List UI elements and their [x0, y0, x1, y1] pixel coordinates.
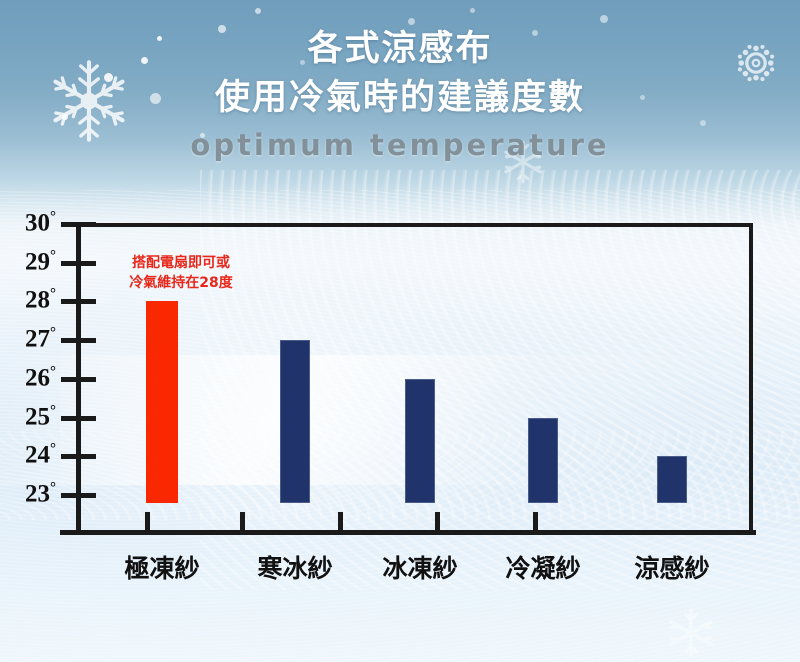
y-axis-tick	[61, 222, 96, 227]
x-axis-tick-label: 極凍紗	[92, 549, 232, 585]
y-axis-tick	[61, 416, 96, 421]
x-axis-tick	[240, 512, 245, 534]
bar-chart: 30°29°28°27°26°25°24°23° 極凍紗寒冰紗冰凍紗冷凝紗涼感紗…	[0, 0, 800, 662]
y-axis-tick-label: 23°	[6, 481, 56, 506]
bar	[657, 456, 687, 503]
y-axis-tick-label: 29°	[6, 249, 56, 274]
bar	[528, 418, 558, 503]
y-axis-tick	[61, 493, 96, 498]
y-axis-tick-label: 28°	[6, 287, 56, 312]
x-axis-line	[60, 530, 756, 535]
chart-annotation: 搭配電扇即可或 冷氣維持在28度	[96, 253, 266, 294]
bar	[146, 301, 178, 503]
x-axis-tick	[435, 512, 440, 534]
x-axis-tick-label: 寒冰紗	[225, 549, 365, 585]
y-axis-tick	[61, 261, 96, 266]
y-axis-tick-label: 24°	[6, 442, 56, 467]
y-axis-tick	[61, 454, 96, 459]
bar	[405, 379, 435, 503]
y-axis-tick	[61, 299, 96, 304]
y-axis-tick	[61, 377, 96, 382]
x-axis-tick-label: 冰凍紗	[350, 549, 490, 585]
y-axis-tick	[61, 338, 96, 343]
x-axis-tick	[145, 512, 150, 534]
y-axis-tick-label: 26°	[6, 365, 56, 390]
x-axis-tick	[338, 512, 343, 534]
x-axis-tick-label: 涼感紗	[602, 549, 742, 585]
y-axis-tick-label: 27°	[6, 326, 56, 351]
x-axis-tick	[533, 512, 538, 534]
y-axis-tick-label: 30°	[6, 210, 56, 235]
poster-canvas: 各式涼感布 使用冷氣時的建議度數 optimum temperature 30°…	[0, 0, 800, 662]
chart-annotation-line2: 冷氣維持在28度	[96, 273, 266, 293]
bar	[280, 340, 310, 503]
y-axis-tick-label: 25°	[6, 404, 56, 429]
chart-annotation-line1: 搭配電扇即可或	[96, 253, 266, 273]
x-axis-tick-label: 冷凝紗	[473, 549, 613, 585]
